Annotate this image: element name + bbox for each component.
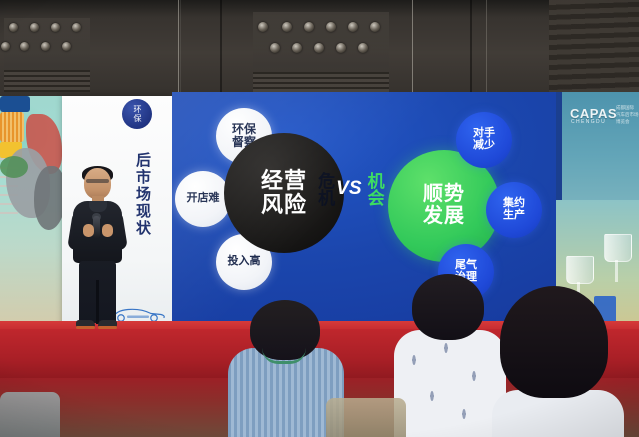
wall-seam — [220, 0, 222, 96]
ceiling-corrugated-side — [549, 0, 639, 96]
section-badge-label: 环保 — [133, 105, 141, 123]
ceiling-spotlight — [9, 23, 18, 32]
wall-seam — [470, 0, 472, 96]
speaker-hand-left — [83, 224, 94, 237]
problem-satellite-bubble: 开店难 — [175, 171, 231, 227]
ceiling-spotlight — [20, 42, 29, 51]
ceiling-spotlight — [304, 22, 314, 32]
ceiling-spotlight — [1, 42, 10, 51]
ceiling-spotlight — [51, 23, 60, 32]
opportunity-satellite-bubble: 对手 减少 — [456, 112, 512, 168]
capas-banner: CAPAS CHENGDU 成都国际 汽车后市场 博览会 — [556, 92, 639, 200]
ceiling-vent-left — [4, 70, 90, 92]
vs-middle-label: VS — [336, 178, 361, 200]
ceiling-spotlight — [336, 43, 346, 53]
speaker-shoe-sole-left — [76, 326, 95, 329]
ceiling-spotlight — [30, 23, 39, 32]
ceiling-wire — [180, 0, 181, 96]
capas-subtitle: CHENGDU — [571, 119, 606, 125]
presentation-photo-scene: 环保 后市场现状 环保 督察 开店难 投入高 经营 风险 危机 VS 机会 顺势… — [0, 0, 639, 437]
speaker-collar — [89, 201, 107, 212]
ceiling-spotlight — [348, 22, 358, 32]
chair-back — [0, 392, 60, 437]
ceiling-spotlight — [72, 23, 81, 32]
audience-head — [412, 274, 484, 340]
display-object — [604, 234, 632, 262]
ceiling-spotlight — [62, 42, 71, 51]
banner-edge — [556, 92, 562, 200]
ceiling-spotlight — [41, 42, 50, 51]
audience-member — [492, 286, 624, 437]
section-badge: 环保 — [122, 99, 152, 129]
display-object-stem — [615, 260, 618, 282]
capas-secondary-text: 成都国际 汽车后市场 博览会 — [616, 105, 639, 125]
speaker-shoe-sole-right — [98, 326, 117, 329]
vs-right-label: 机会 — [366, 172, 382, 206]
speaker-head — [84, 168, 111, 199]
ceiling-wire — [412, 0, 413, 96]
microphone-body — [93, 216, 100, 238]
ceiling-spotlight — [282, 22, 292, 32]
ceiling-spotlight — [358, 43, 368, 53]
chair-back — [326, 398, 406, 437]
ceiling-backwall — [0, 0, 639, 96]
ceiling-spotlight — [292, 43, 302, 53]
speaker-glasses — [86, 179, 109, 183]
speaker-hand-right — [102, 224, 113, 237]
mural-shape — [0, 112, 24, 142]
ceiling-spotlight — [270, 43, 280, 53]
ceiling-spotlight — [314, 43, 324, 53]
ceiling-wire — [178, 0, 179, 96]
audience-head — [500, 286, 608, 398]
audience-shirt-pattern — [394, 330, 506, 437]
opportunity-satellite-bubble: 集约 生产 — [486, 182, 542, 238]
ceiling-spotlight — [258, 22, 268, 32]
audience-member — [394, 274, 506, 437]
booth-mural-left — [0, 96, 70, 341]
ceiling-vent-center — [253, 72, 389, 92]
mural-shape — [0, 156, 28, 178]
display-object — [566, 256, 594, 284]
vs-comparison-block: 危机 VS 机会 — [316, 172, 382, 206]
ceiling-spotlight — [370, 22, 380, 32]
ceiling-wire — [486, 0, 487, 96]
speaker-leg-split — [96, 280, 99, 324]
mural-shape — [0, 96, 30, 112]
vs-left-label: 危机 — [316, 172, 332, 206]
ceiling-spotlight — [326, 22, 336, 32]
ceiling-light-panel-center — [253, 12, 389, 68]
speaker-figure — [66, 168, 130, 330]
